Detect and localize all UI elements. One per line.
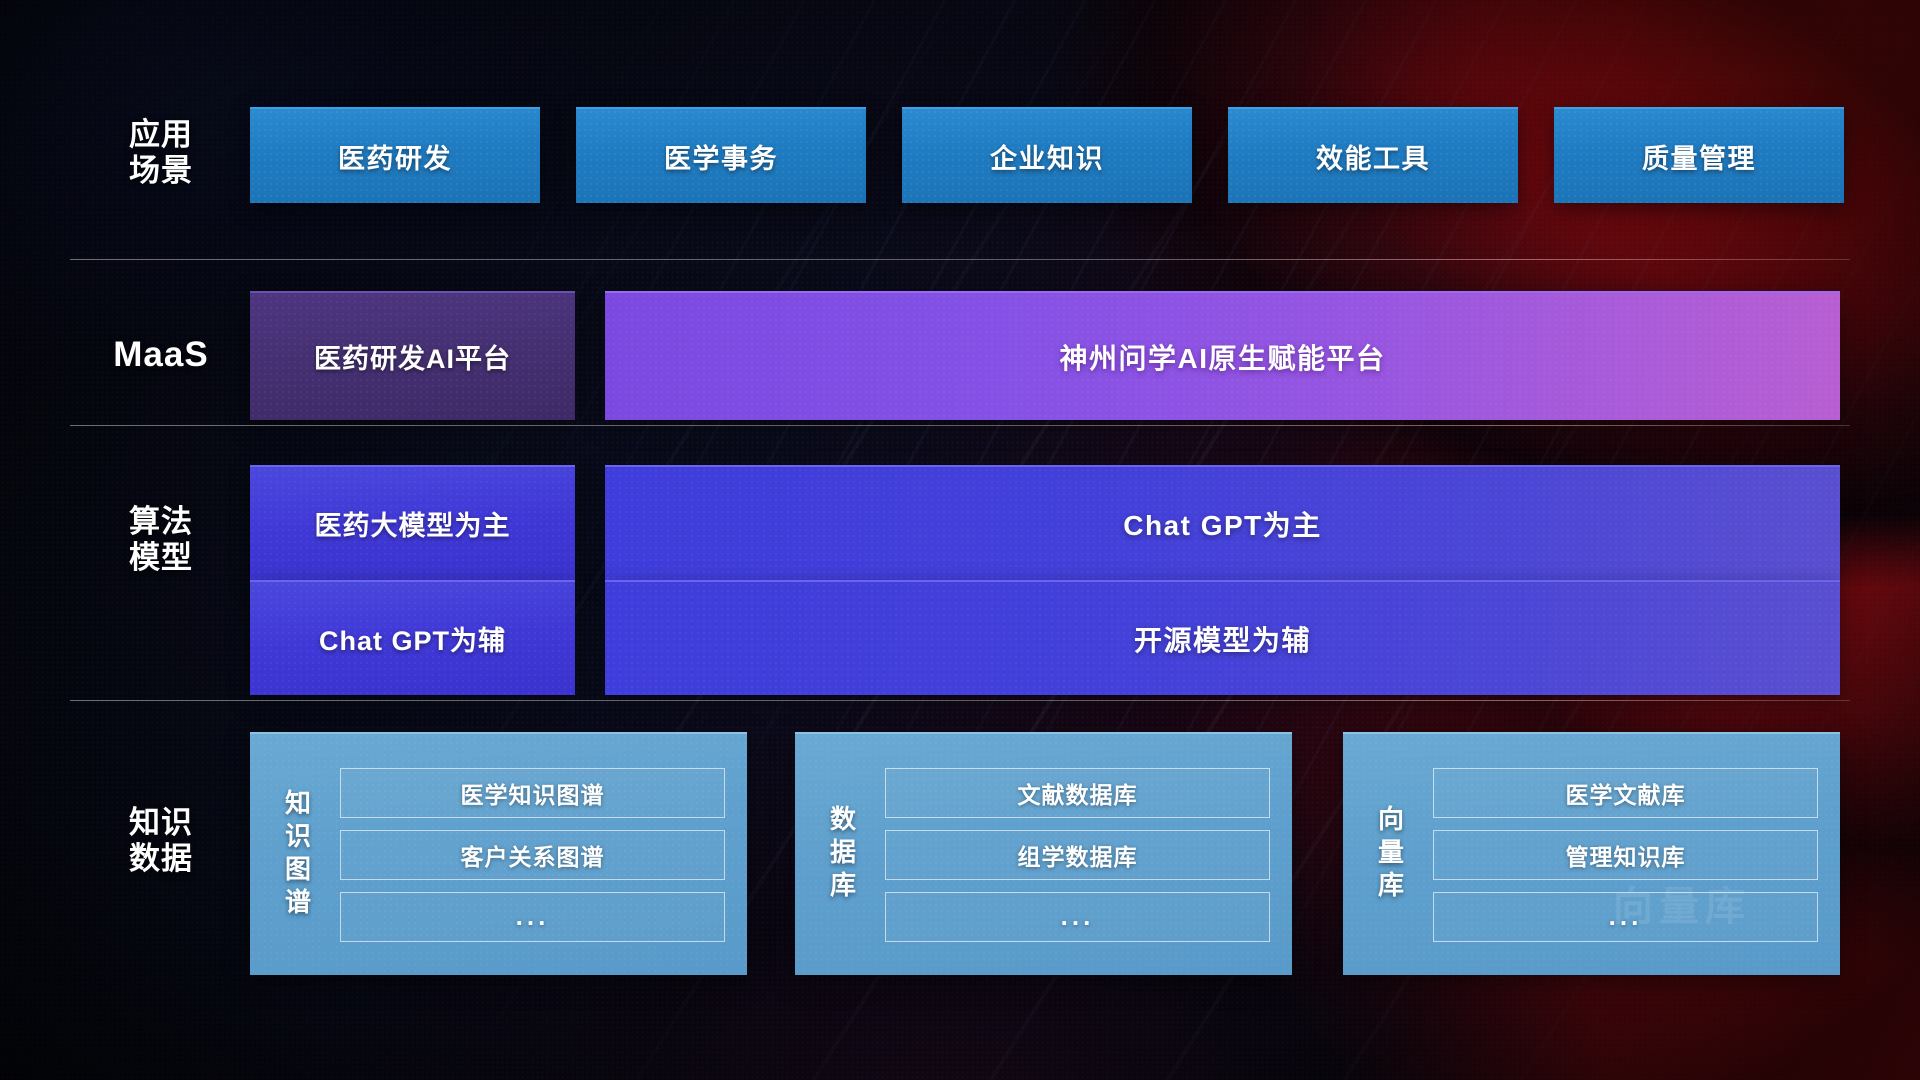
- knowledge-item[interactable]: 医学知识图谱: [340, 768, 725, 818]
- knowledge-item-more[interactable]: ...: [1433, 892, 1818, 942]
- knowledge-item-list-knowledge-graph: 医学知识图谱 客户关系图谱 ...: [334, 734, 747, 975]
- knowledge-group-knowledge-graph: 知识图谱 医学知识图谱 客户关系图谱 ...: [250, 732, 747, 975]
- app-scenario-label-3: 企业知识: [990, 137, 1104, 176]
- knowledge-item[interactable]: 组学数据库: [885, 830, 1270, 880]
- knowledge-item[interactable]: 客户关系图谱: [340, 830, 725, 880]
- app-scenario-box-4[interactable]: 效能工具: [1228, 107, 1518, 203]
- knowledge-group-vector-store: 向量库 向量库 医学文献库 管理知识库 ...: [1343, 732, 1840, 975]
- maas-platform-box-pharma[interactable]: 医药研发AI平台: [250, 291, 575, 420]
- algorithm-box-primary-left[interactable]: 医药大模型为主: [250, 465, 575, 580]
- maas-platform-box-shenzhou[interactable]: 神州问学AI原生赋能平台: [605, 291, 1840, 420]
- knowledge-item-list-database: 文献数据库 组学数据库 ...: [879, 734, 1292, 975]
- divider-after-application-row: [70, 259, 1850, 260]
- app-scenario-label-5: 质量管理: [1642, 137, 1756, 176]
- row-label-line-1: MaaS: [96, 335, 226, 376]
- algorithm-box-primary-right[interactable]: Chat GPT为主: [605, 465, 1840, 580]
- row-label-maas: MaaS: [96, 335, 226, 376]
- maas-platform-label-pharma: 医药研发AI平台: [314, 337, 511, 376]
- row-label-line-2: 数据: [96, 841, 226, 877]
- knowledge-item[interactable]: 文献数据库: [885, 768, 1270, 818]
- app-scenario-box-2[interactable]: 医学事务: [576, 107, 866, 203]
- algorithm-label-secondary-right: 开源模型为辅: [1134, 619, 1311, 659]
- app-scenario-box-5[interactable]: 质量管理: [1554, 107, 1844, 203]
- app-scenario-label-4: 效能工具: [1316, 137, 1430, 176]
- row-label-line-1: 算法: [96, 504, 226, 540]
- app-scenario-box-1[interactable]: 医药研发: [250, 107, 540, 203]
- row-label-knowledge-data: 知识 数据: [96, 805, 226, 877]
- row-label-application-scenarios: 应用 场景: [96, 117, 226, 189]
- knowledge-item-more[interactable]: ...: [885, 892, 1270, 942]
- maas-platform-label-shenzhou: 神州问学AI原生赋能平台: [1059, 337, 1385, 377]
- knowledge-group-title-vector-store: 向量库: [1343, 734, 1427, 975]
- algorithm-box-secondary-left[interactable]: Chat GPT为辅: [250, 580, 575, 695]
- knowledge-item[interactable]: 管理知识库: [1433, 830, 1818, 880]
- knowledge-item[interactable]: 医学文献库: [1433, 768, 1818, 818]
- row-label-line-2: 场景: [96, 153, 226, 189]
- algorithm-label-primary-right: Chat GPT为主: [1123, 504, 1322, 544]
- row-label-line-1: 应用: [96, 117, 226, 153]
- diagram-content: 应用 场景 医药研发 医学事务 企业知识 效能工具 质量管理 MaaS: [0, 0, 1920, 1080]
- app-scenario-label-1: 医药研发: [338, 137, 452, 176]
- knowledge-item-more[interactable]: ...: [340, 892, 725, 942]
- row-label-line-1: 知识: [96, 805, 226, 841]
- row-label-algorithm-model: 算法 模型: [96, 504, 226, 576]
- app-scenario-box-3[interactable]: 企业知识: [902, 107, 1192, 203]
- divider-after-maas-row: [70, 425, 1850, 426]
- divider-after-algorithm-row: [70, 700, 1850, 701]
- knowledge-group-title-database: 数据库: [795, 734, 879, 975]
- row-label-line-2: 模型: [96, 540, 226, 576]
- algorithm-label-secondary-left: Chat GPT为辅: [319, 619, 506, 658]
- knowledge-group-title-knowledge-graph: 知识图谱: [250, 734, 334, 975]
- app-scenario-label-2: 医学事务: [664, 137, 778, 176]
- architecture-diagram-slide: 应用 场景 医药研发 医学事务 企业知识 效能工具 质量管理 MaaS: [0, 0, 1920, 1080]
- knowledge-item-list-vector-store: 医学文献库 管理知识库 ...: [1427, 734, 1840, 975]
- algorithm-box-secondary-right[interactable]: 开源模型为辅: [605, 580, 1840, 695]
- algorithm-label-primary-left: 医药大模型为主: [315, 504, 511, 543]
- knowledge-group-database: 数据库 文献数据库 组学数据库 ...: [795, 732, 1292, 975]
